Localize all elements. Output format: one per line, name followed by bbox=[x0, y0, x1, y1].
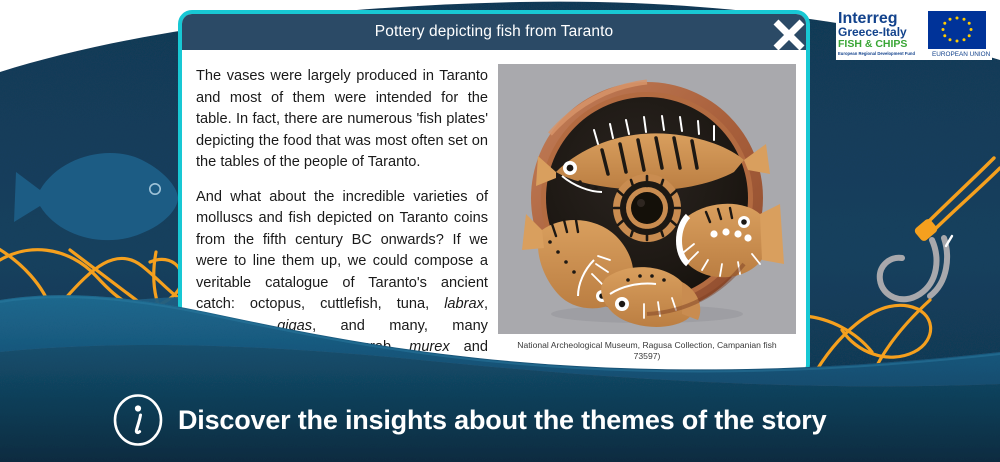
image-caption: National Archeological Museum, Ragusa Co… bbox=[498, 340, 796, 362]
eu-flag bbox=[928, 11, 986, 49]
bottom-banner: Discover the insights about the themes o… bbox=[0, 378, 1000, 462]
screenshot-root: Pottery depicting fish from Taranto The … bbox=[0, 0, 1000, 462]
close-icon[interactable] bbox=[768, 14, 810, 56]
logo-eu-label: EUROPEAN UNION bbox=[932, 51, 991, 58]
interreg-logo: Interreg Greece-Italy FISH & CHIPS Europ… bbox=[836, 6, 992, 60]
logo-greece-italy-text: Greece-Italy bbox=[838, 25, 907, 39]
p2-italic-pekton: pekton bbox=[196, 361, 240, 377]
info-icon bbox=[112, 394, 164, 446]
modal-body: The vases were largely produced in Taran… bbox=[182, 50, 806, 378]
paragraph-2: And what about the incredible varieties … bbox=[196, 187, 488, 379]
caption-line-2: 73597) bbox=[634, 351, 661, 361]
logo-fish-chips-text: FISH & CHIPS bbox=[838, 38, 907, 50]
p2-tail: . bbox=[240, 361, 244, 377]
p2-mid-1: , bbox=[484, 296, 488, 312]
article-media-column: National Archeological Museum, Ragusa Co… bbox=[498, 64, 796, 378]
article-text-column: The vases were largely produced in Taran… bbox=[192, 64, 488, 378]
p2-mid-3: and bbox=[450, 339, 488, 355]
fish-plate-illustration bbox=[498, 64, 796, 334]
p2-lead: And what about the incredible varieties … bbox=[196, 189, 488, 313]
page-title: Pottery depicting fish from Taranto bbox=[375, 23, 613, 41]
p2-italic-murex: murex bbox=[409, 339, 450, 355]
logo-erdf-text: European Regional Development Fund bbox=[838, 51, 915, 56]
caption-line-1: National Archeological Museum, Ragusa Co… bbox=[517, 340, 776, 350]
center-medallion bbox=[613, 174, 681, 242]
artifact-image bbox=[498, 64, 796, 334]
p2-italic-serranus-gigas: serranus gigas bbox=[196, 318, 312, 334]
modal-dialog: Pottery depicting fish from Taranto The … bbox=[178, 10, 810, 378]
modal-header: Pottery depicting fish from Taranto bbox=[182, 14, 806, 50]
close-button[interactable] bbox=[768, 14, 810, 56]
p2-italic-labrax: labrax bbox=[444, 296, 484, 312]
banner-label: Discover the insights about the themes o… bbox=[178, 405, 826, 436]
paragraph-1: The vases were largely produced in Taran… bbox=[196, 66, 488, 174]
